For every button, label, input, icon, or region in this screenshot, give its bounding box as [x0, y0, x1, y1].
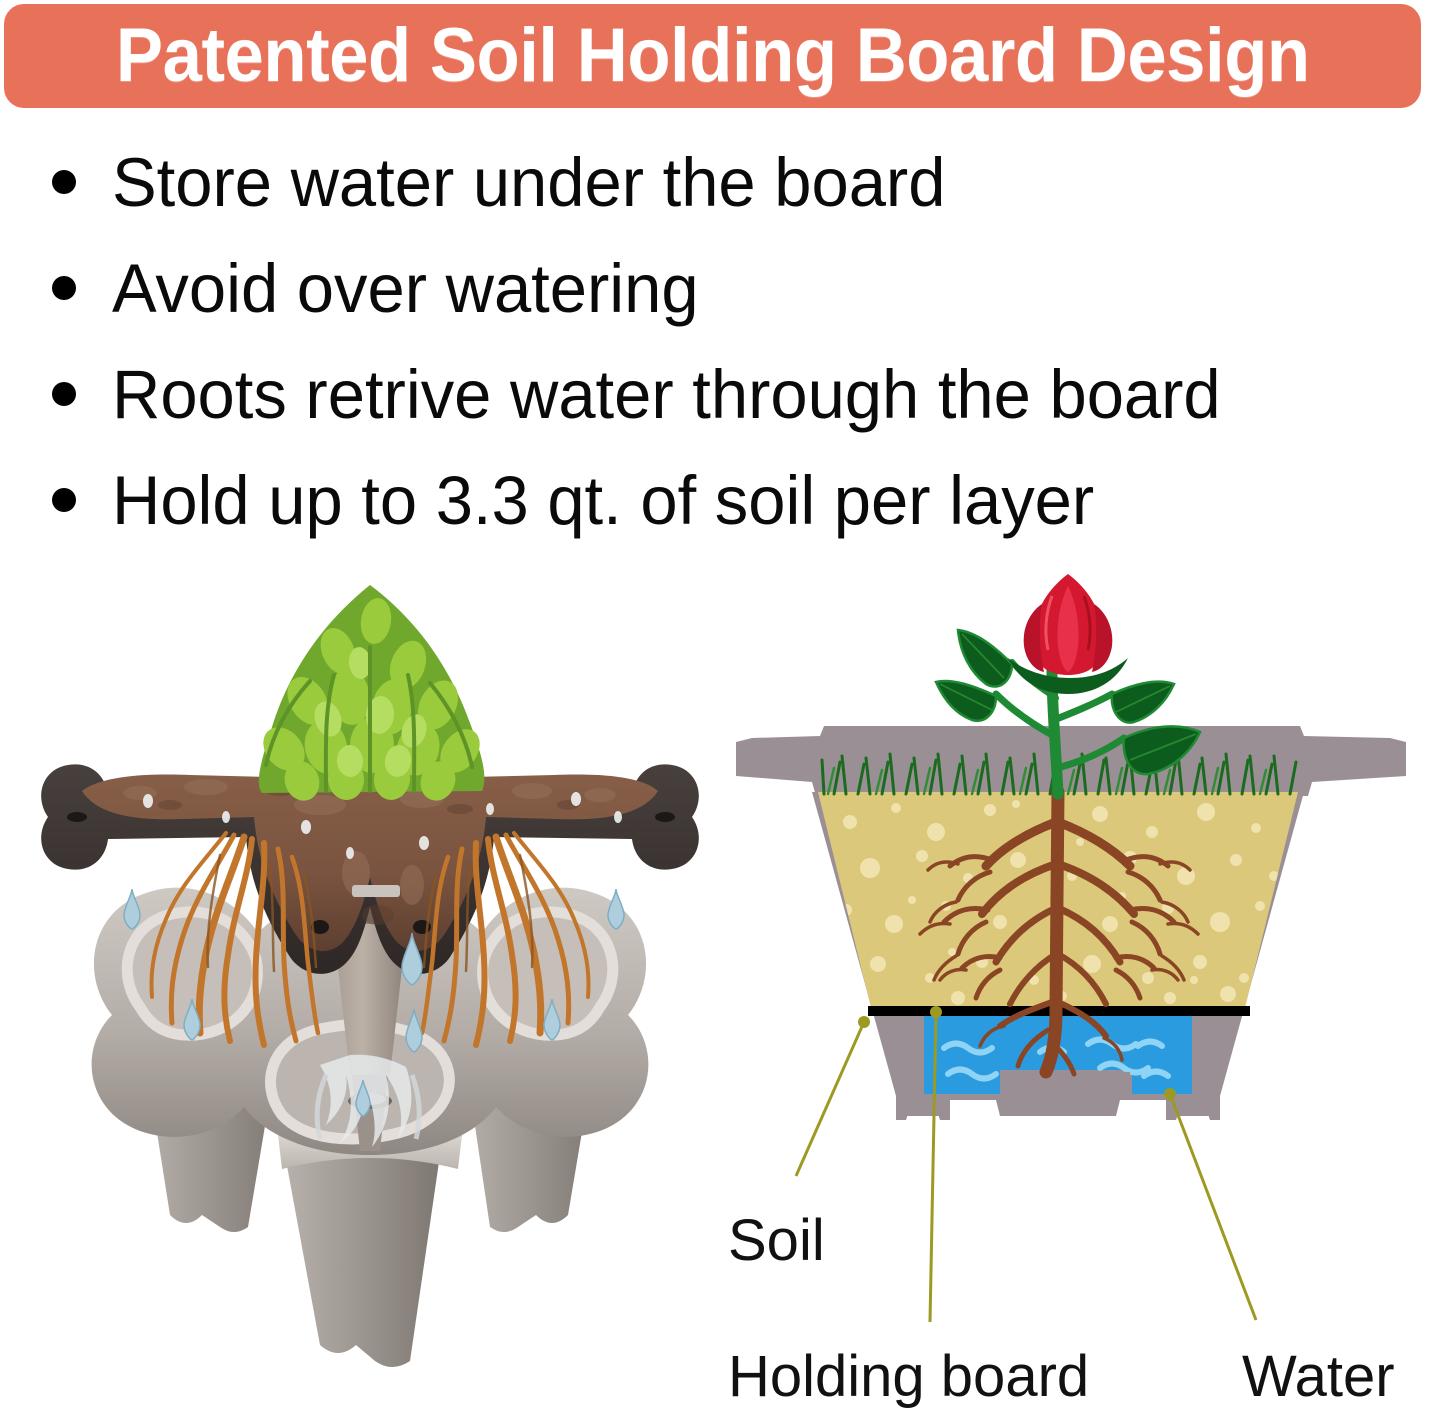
right-diagram-figure: Soil Holding board Water [700, 560, 1445, 1420]
bullet-dot-icon [52, 488, 76, 512]
label-water: Water [1242, 1344, 1395, 1409]
label-soil: Soil [728, 1208, 825, 1273]
list-item: Store water under the board [52, 148, 1392, 254]
label-holding-board: Holding board [728, 1344, 1089, 1409]
left-product-figure [20, 555, 720, 1355]
planter-bottom-cone [278, 1123, 462, 1367]
bullet-dot-icon [52, 276, 76, 300]
header-banner: Patented Soil Holding Board Design [4, 4, 1421, 108]
bullet-dot-icon [52, 382, 76, 406]
bullet-text: Hold up to 3.3 qt. of soil per layer [112, 466, 1094, 535]
planter-cross-section-illustration: Soil Holding board Water [700, 560, 1445, 1420]
feature-bullet-list: Store water under the board Avoid over w… [52, 148, 1392, 572]
stacking-planter-illustration [20, 555, 720, 1355]
list-item: Avoid over watering [52, 254, 1392, 360]
bullet-text: Avoid over watering [112, 254, 699, 323]
bullet-text: Roots retrive water through the board [112, 360, 1221, 429]
bullet-text: Store water under the board [112, 148, 945, 217]
list-item: Roots retrive water through the board [52, 360, 1392, 466]
plant-foliage [255, 585, 488, 806]
page-title: Patented Soil Holding Board Design [116, 18, 1310, 94]
rose-bloom-icon [1024, 574, 1113, 675]
bullet-dot-icon [52, 170, 76, 194]
